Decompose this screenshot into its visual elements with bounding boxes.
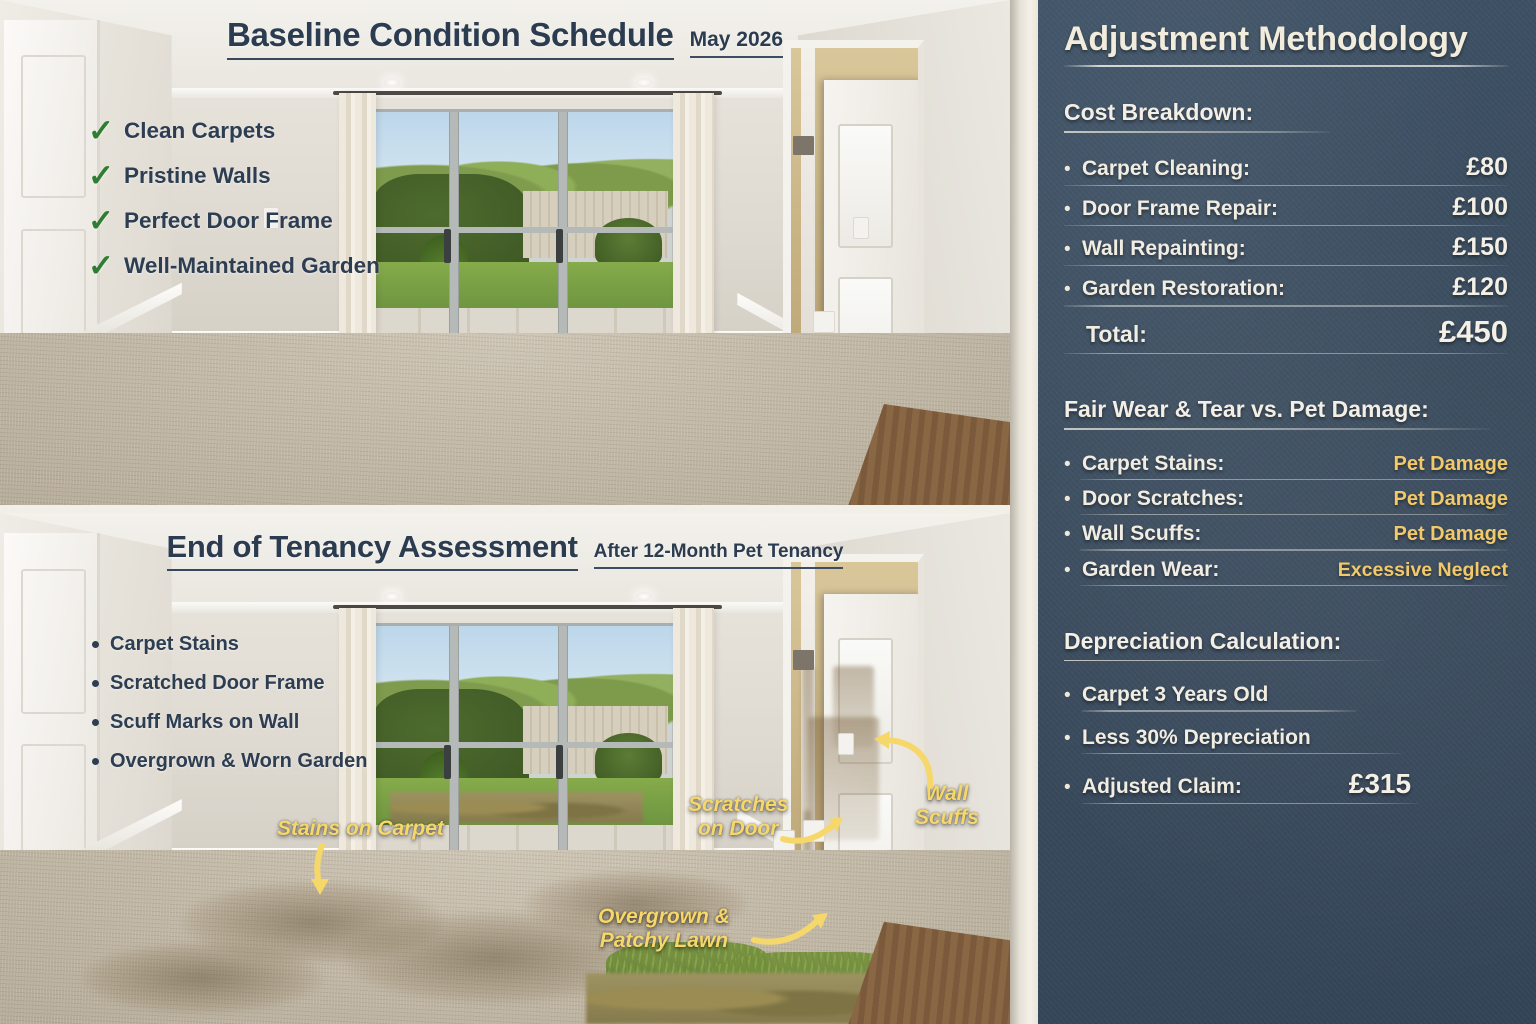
depreciation-row-label: Less 30% Depreciation bbox=[1082, 726, 1508, 750]
section-cost-breakdown: Cost Breakdown: • Carpet Cleaning: £80 •… bbox=[1064, 99, 1508, 354]
fault-list-item: Scuff Marks on Wall bbox=[92, 703, 367, 742]
fault-list-item-label: Carpet Stains bbox=[110, 633, 239, 656]
callout-wall-scuffs: Wall Scuffs bbox=[915, 782, 979, 829]
cost-row-value: £100 bbox=[1452, 193, 1508, 222]
cost-total-label: Total: bbox=[1086, 321, 1439, 348]
bullet-icon bbox=[92, 719, 99, 726]
door-mullion bbox=[559, 112, 567, 333]
checklist-item-label: Perfect Door Frame bbox=[124, 208, 333, 234]
bullet-icon: • bbox=[1064, 240, 1082, 259]
callout-line-2: Scuffs bbox=[915, 806, 979, 830]
classification-row: • Garden Wear: Excessive Neglect bbox=[1064, 554, 1508, 585]
closet-door-panel bbox=[21, 55, 86, 198]
bullet-icon: • bbox=[1064, 778, 1082, 797]
fault-list-item-label: Scratched Door Frame bbox=[110, 672, 325, 695]
bullet-icon bbox=[92, 641, 99, 648]
cost-total-value: £450 bbox=[1439, 314, 1508, 350]
section-depreciation-calculation: Depreciation Calculation: • Carpet 3 Yea… bbox=[1064, 628, 1508, 804]
callout-line-1: Wall bbox=[915, 782, 979, 806]
fault-list-item-label: Scuff Marks on Wall bbox=[110, 711, 299, 734]
door-hinge bbox=[793, 136, 813, 156]
checklist-item-label: Pristine Walls bbox=[124, 163, 271, 189]
section-heading-underline bbox=[1064, 428, 1490, 430]
classification-row-value: Pet Damage bbox=[1394, 523, 1509, 546]
fault-list-item: Carpet Stains bbox=[92, 625, 367, 664]
bullet-icon bbox=[92, 758, 99, 765]
title-underline bbox=[1064, 65, 1508, 67]
cost-row-value: £120 bbox=[1452, 273, 1508, 302]
row-underline bbox=[1080, 479, 1508, 480]
cost-total-row: Total: £450 bbox=[1064, 310, 1508, 353]
cost-row: • Door Frame Repair: £100 bbox=[1064, 189, 1508, 225]
cost-row: • Wall Repainting: £150 bbox=[1064, 229, 1508, 265]
fault-list: Carpet Stains Scratched Door Frame Scuff… bbox=[92, 625, 367, 781]
checklist-item: ✓ Perfect Door Frame bbox=[88, 198, 380, 243]
sidebar-title: Adjustment Methodology bbox=[1064, 20, 1508, 59]
shrub bbox=[595, 733, 661, 782]
bullet-icon bbox=[92, 680, 99, 687]
checklist-item: ✓ Well-Maintained Garden bbox=[88, 243, 380, 288]
shrub bbox=[595, 218, 661, 267]
lawn bbox=[372, 262, 674, 311]
classification-row-label: Door Scratches: bbox=[1082, 487, 1394, 511]
bullet-icon: • bbox=[1064, 455, 1082, 474]
door-rail bbox=[372, 742, 674, 748]
classification-row-label: Carpet Stains: bbox=[1082, 452, 1394, 476]
fault-list-item: Overgrown & Worn Garden bbox=[92, 742, 367, 781]
bullet-icon: • bbox=[1064, 490, 1082, 509]
cost-row-label: Garden Restoration: bbox=[1082, 277, 1452, 301]
callout-line-2: on Door bbox=[688, 817, 788, 841]
adjusted-claim-label: Adjusted Claim: bbox=[1082, 775, 1339, 799]
bullet-icon: • bbox=[1064, 200, 1082, 219]
adjusted-claim-row: • Adjusted Claim: £315 bbox=[1064, 764, 1508, 803]
fault-list-item-label: Overgrown & Worn Garden bbox=[110, 750, 367, 773]
wall-outlet bbox=[803, 820, 825, 842]
callout-line-2: Patchy Lawn bbox=[598, 929, 730, 953]
section-heading: Depreciation Calculation: bbox=[1064, 628, 1508, 655]
infographic-root: Baseline Condition Schedule May 2026 ✓ C… bbox=[0, 0, 1536, 1024]
door-mullion bbox=[450, 112, 458, 333]
bullet-icon: • bbox=[1064, 686, 1082, 705]
depreciation-row: • Carpet 3 Years Old bbox=[1064, 679, 1508, 710]
section-heading-underline bbox=[1064, 660, 1384, 662]
depreciation-row-label: Carpet 3 Years Old bbox=[1082, 683, 1508, 707]
cost-row-label: Door Frame Repair: bbox=[1082, 197, 1452, 221]
door-mullion bbox=[559, 626, 567, 850]
row-underline bbox=[1080, 585, 1508, 586]
bullet-icon: • bbox=[1064, 729, 1082, 748]
checklist-item: ✓ Clean Carpets bbox=[88, 108, 380, 153]
classification-row-value: Pet Damage bbox=[1394, 453, 1509, 476]
callout-overgrown-patchy-lawn: Overgrown & Patchy Lawn bbox=[598, 905, 730, 953]
patio bbox=[372, 308, 674, 332]
door-mullion bbox=[450, 626, 458, 850]
door-hinge bbox=[793, 650, 813, 670]
section-heading: Cost Breakdown: bbox=[1064, 99, 1508, 126]
panel-divider bbox=[0, 505, 1010, 513]
cost-row-label: Carpet Cleaning: bbox=[1082, 157, 1466, 181]
bullet-icon: • bbox=[1064, 280, 1082, 299]
row-underline bbox=[1082, 753, 1402, 754]
panel-edge-strip bbox=[1010, 0, 1038, 1024]
door-handle[interactable] bbox=[444, 745, 451, 779]
door-rail bbox=[372, 227, 674, 233]
row-underline bbox=[1064, 225, 1508, 226]
section-fair-wear-vs-pet-damage: Fair Wear & Tear vs. Pet Damage: • Carpe… bbox=[1064, 396, 1508, 586]
baseline-photo-panel: Baseline Condition Schedule May 2026 ✓ C… bbox=[0, 0, 1010, 505]
row-underline bbox=[1064, 185, 1508, 186]
section-heading: Fair Wear & Tear vs. Pet Damage: bbox=[1064, 396, 1508, 423]
row-underline bbox=[1082, 803, 1419, 804]
sliding-glass-door bbox=[369, 109, 677, 336]
light-switch[interactable] bbox=[838, 733, 854, 755]
cost-row: • Carpet Cleaning: £80 bbox=[1064, 149, 1508, 185]
baseline-checklist: ✓ Clean Carpets ✓ Pristine Walls ✓ Perfe… bbox=[88, 108, 380, 288]
row-underline bbox=[1064, 265, 1508, 266]
carpet-stain bbox=[81, 942, 323, 1014]
check-icon: ✓ bbox=[88, 205, 114, 236]
light-switch[interactable] bbox=[853, 217, 869, 239]
depreciation-row: • Less 30% Depreciation bbox=[1064, 722, 1508, 753]
classification-row-label: Wall Scuffs: bbox=[1082, 522, 1394, 546]
callout-line-1: Stains on Carpet bbox=[277, 817, 444, 840]
adjusted-claim-value: £315 bbox=[1349, 768, 1411, 800]
callout-line-1: Scratches bbox=[688, 793, 788, 817]
bullet-icon: • bbox=[1064, 525, 1082, 544]
row-underline bbox=[1080, 549, 1508, 550]
callout-stains-on-carpet: Stains on Carpet bbox=[277, 818, 444, 841]
cost-row: • Garden Restoration: £120 bbox=[1064, 269, 1508, 305]
section-heading-underline bbox=[1064, 131, 1330, 133]
curtain-rod bbox=[333, 91, 722, 95]
cost-row-value: £80 bbox=[1466, 153, 1508, 182]
wall-outlet bbox=[813, 311, 835, 333]
row-underline bbox=[1082, 710, 1357, 711]
callout-line-1: Overgrown & bbox=[598, 905, 730, 929]
classification-row-label: Garden Wear: bbox=[1082, 558, 1338, 582]
adjustment-methodology-sidebar: Adjustment Methodology Cost Breakdown: •… bbox=[1038, 0, 1536, 1024]
classification-row: • Door Scratches: Pet Damage bbox=[1064, 483, 1508, 514]
checklist-item: ✓ Pristine Walls bbox=[88, 153, 380, 198]
cost-row-value: £150 bbox=[1452, 233, 1508, 262]
row-underline bbox=[1064, 353, 1508, 354]
callout-scratches-on-door: Scratches on Door bbox=[688, 793, 788, 840]
cost-row-label: Wall Repainting: bbox=[1082, 237, 1452, 261]
check-icon: ✓ bbox=[88, 115, 114, 146]
bullet-icon: • bbox=[1064, 160, 1082, 179]
classification-row-value: Excessive Neglect bbox=[1338, 559, 1508, 582]
bullet-icon: • bbox=[1064, 561, 1082, 580]
row-underline bbox=[1064, 305, 1508, 306]
closet-door-panel bbox=[21, 569, 86, 714]
row-underline bbox=[1080, 514, 1508, 515]
checklist-item-label: Clean Carpets bbox=[124, 118, 275, 144]
door-handle[interactable] bbox=[556, 745, 563, 779]
classification-row-value: Pet Damage bbox=[1394, 488, 1509, 511]
door-handle[interactable] bbox=[444, 229, 451, 263]
checklist-item-label: Well-Maintained Garden bbox=[124, 253, 380, 279]
curtain-rod bbox=[333, 605, 722, 609]
door-handle[interactable] bbox=[556, 229, 563, 263]
classification-row: • Wall Scuffs: Pet Damage bbox=[1064, 518, 1508, 549]
check-icon: ✓ bbox=[88, 250, 114, 281]
classification-row: • Carpet Stains: Pet Damage bbox=[1064, 448, 1508, 479]
check-icon: ✓ bbox=[88, 160, 114, 191]
photo-column: Baseline Condition Schedule May 2026 ✓ C… bbox=[0, 0, 1010, 1024]
curtain-right bbox=[673, 93, 714, 335]
fault-list-item: Scratched Door Frame bbox=[92, 664, 367, 703]
